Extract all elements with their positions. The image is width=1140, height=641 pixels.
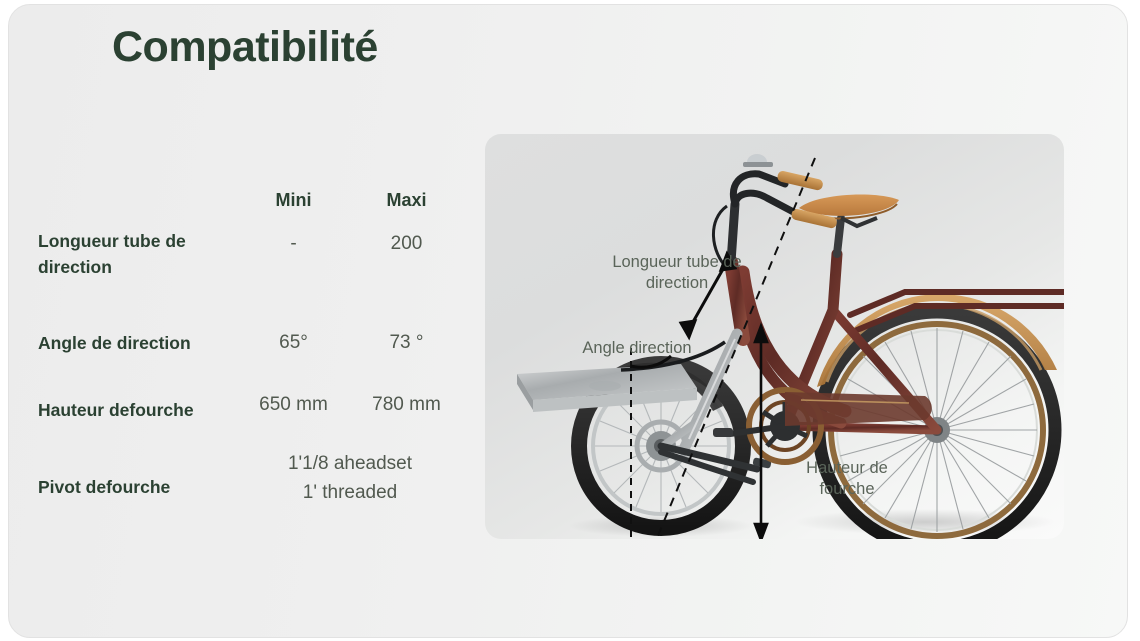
cell-steering-angle-mini: 65° bbox=[237, 329, 350, 358]
annotation-head-tube-length: Longueur tube de direction bbox=[577, 252, 777, 294]
row-label-steering-angle: Angle de direction bbox=[29, 329, 237, 356]
cell-fork-height-mini: 650 mm bbox=[237, 391, 350, 420]
page-title: Compatibilité bbox=[112, 23, 378, 72]
cell-head-tube-length-mini: - bbox=[237, 228, 350, 259]
handlebar bbox=[733, 174, 785, 204]
table-header-row: Mini Maxi bbox=[29, 187, 469, 214]
header-cell-maxi: Maxi bbox=[350, 187, 463, 214]
cell-steering-angle-maxi: 73 ° bbox=[350, 329, 463, 358]
cell-fork-steerer-value: 1'1/8 aheadset 1' threaded bbox=[237, 450, 463, 507]
grip-upper bbox=[777, 170, 824, 191]
chain-guard bbox=[785, 392, 932, 426]
annotation-steering-angle: Angle direction bbox=[547, 338, 727, 359]
table-row: Longueur tube de direction - 200 bbox=[29, 228, 469, 281]
front-cargo-rack bbox=[517, 364, 697, 412]
table-row: Pivot defourche 1'1/8 aheadset 1' thread… bbox=[29, 450, 469, 507]
annotation-fork-height: Hauteur de fourche bbox=[767, 458, 927, 500]
header-cell-mini: Mini bbox=[237, 187, 350, 214]
cell-fork-height-maxi: 780 mm bbox=[350, 391, 463, 420]
row-label-fork-height: Hauteur defourche bbox=[29, 391, 237, 423]
bell bbox=[747, 154, 767, 162]
row-label-fork-steerer: Pivot defourche bbox=[29, 450, 237, 500]
seatpost bbox=[837, 218, 841, 254]
slide-card: Compatibilité Mini Maxi Longueur tube de… bbox=[8, 4, 1128, 638]
table-row: Hauteur defourche 650 mm 780 mm bbox=[29, 391, 469, 423]
table-row: Angle de direction 65° 73 ° bbox=[29, 329, 469, 358]
cell-head-tube-length-maxi: 200 bbox=[350, 228, 463, 259]
bike-diagram-panel: Longueur tube de direction Angle directi… bbox=[485, 134, 1064, 539]
row-label-head-tube-length: Longueur tube de direction bbox=[29, 228, 237, 281]
spec-table: Mini Maxi Longueur tube de direction - 2… bbox=[29, 187, 469, 507]
